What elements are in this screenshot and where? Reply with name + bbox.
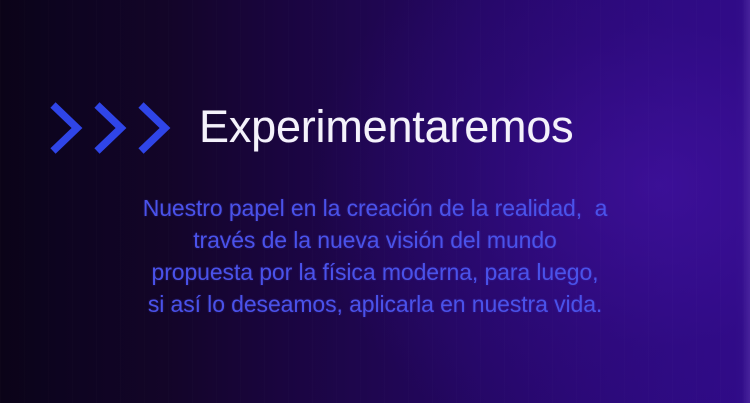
slide-body-text: Nuestro papel en la creación de la reali… — [0, 192, 750, 320]
slide-content: Experimentaremos Nuestro papel en la cre… — [0, 0, 750, 403]
chevron-decoration-group — [46, 100, 178, 156]
chevron-right-icon — [134, 101, 172, 155]
body-line: Nuestro papel en la creación de la reali… — [0, 192, 750, 224]
body-line: propuesta por la física moderna, para lu… — [0, 256, 750, 288]
chevron-right-icon — [90, 101, 128, 155]
body-line: si así lo deseamos, aplicarla en nuestra… — [0, 288, 750, 320]
body-line: través de la nueva visión del mundo — [0, 224, 750, 256]
slide-title: Experimentaremos — [199, 95, 573, 157]
chevron-right-icon — [46, 101, 84, 155]
presentation-slide: Experimentaremos Nuestro papel en la cre… — [0, 0, 750, 403]
